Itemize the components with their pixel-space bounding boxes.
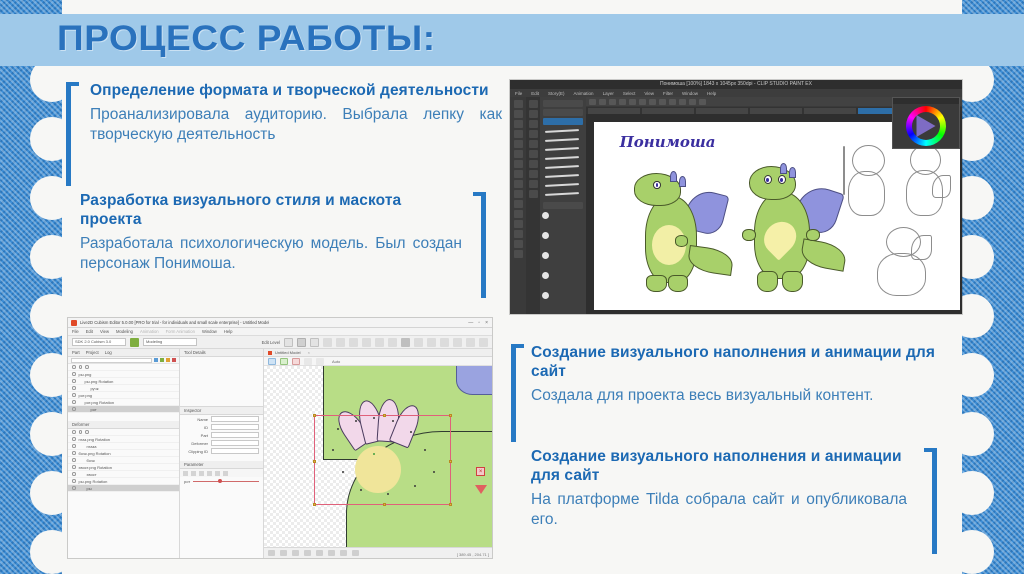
list-item[interactable]: бочк.png Rotation: [68, 450, 179, 457]
block-1-body: Проанализировала аудиторию. Выбрала лепк…: [90, 105, 502, 145]
brush-preview-stroke[interactable]: [543, 181, 583, 189]
brush-preview-stroke[interactable]: [543, 172, 583, 180]
close-icon[interactable]: ×: [485, 320, 488, 326]
list-item[interactable]: ры.png: [68, 371, 179, 378]
menu-help[interactable]: Help: [224, 329, 233, 334]
deformer-label: бочк: [79, 458, 95, 463]
block-2-body: Разработала психологическую модель. Был …: [80, 234, 462, 274]
document-tab[interactable]: [696, 108, 748, 114]
cursor-coordinates: [ 389.45 , 204.71 ]: [457, 552, 489, 557]
mode-select[interactable]: Modeling: [143, 338, 197, 346]
block-1-heading: Определение формата и творческой деятель…: [90, 82, 502, 101]
eraser-tool-icon[interactable]: [514, 150, 523, 158]
menu-window[interactable]: Window: [202, 329, 217, 334]
mesh-vertex[interactable]: [337, 428, 339, 430]
bracket-left-3: [511, 344, 525, 442]
onion-skin-icon[interactable]: [340, 550, 347, 556]
subtool-icon[interactable]: [529, 120, 538, 128]
live2d-left-panels: Part Project Log: [68, 349, 180, 558]
list-item-selected[interactable]: рот: [68, 406, 179, 413]
brush-preview-stroke[interactable]: [543, 154, 583, 162]
sdk-version-select[interactable]: SDK 2.0 Cubism 3.0: [72, 338, 126, 346]
field-label: ID: [184, 425, 208, 430]
resize-handle[interactable]: [383, 414, 386, 417]
toolbar-icon[interactable]: [609, 99, 616, 105]
part-label: ры.png Rotation: [79, 379, 114, 384]
show-mesh-icon[interactable]: [268, 358, 276, 365]
menu-view[interactable]: View: [100, 329, 109, 334]
document-tab[interactable]: [588, 108, 640, 114]
eye-icon[interactable]: [72, 393, 76, 397]
subtool-icon[interactable]: [529, 160, 538, 168]
deformer-panel-header: Deformer: [68, 421, 179, 429]
eye-icon[interactable]: [72, 479, 76, 483]
parameter-name: рот: [184, 479, 190, 484]
toolbar-icon[interactable]: [629, 99, 636, 105]
toolbar-icon[interactable]: [689, 99, 696, 105]
glue-icon[interactable]: [349, 338, 358, 347]
deformer-label: ры: [79, 486, 92, 491]
field-label: Clipping ID: [184, 449, 208, 454]
visibility-icon[interactable]: [72, 430, 76, 434]
pen-tool-icon[interactable]: [440, 338, 449, 347]
list-item[interactable]: ручк: [68, 385, 179, 392]
tool-details-header: Tool Details: [180, 349, 263, 357]
model-view-tab[interactable]: Untitled Model ×: [264, 349, 492, 357]
brush-category-row[interactable]: [543, 100, 583, 107]
brush-preview-stroke[interactable]: [543, 127, 583, 135]
eye-icon[interactable]: [72, 372, 76, 376]
swatch[interactable]: [542, 232, 549, 239]
menu-form-animation[interactable]: Form Animation: [166, 329, 195, 334]
block-4-body: На платформе Tilda собрала сайт и опубли…: [531, 490, 907, 530]
flip-icon[interactable]: [328, 550, 335, 556]
select-tool-icon[interactable]: [514, 230, 523, 238]
menu-animation[interactable]: Animation: [574, 91, 594, 96]
text-block-2: Разработка визуального стиля и маскота п…: [72, 192, 507, 274]
parts-group-icon[interactable]: [160, 358, 164, 362]
art-app-title-bar: Понимоша [100%] 1843 x 1045px 350dpi - C…: [510, 80, 962, 89]
list-item[interactable]: ры.png Rotation: [68, 478, 179, 485]
subtool-icon[interactable]: [529, 170, 538, 178]
text-tool-icon[interactable]: [514, 170, 523, 178]
left-border-band: [0, 0, 62, 574]
page-title: ПРОЦЕСС РАБОТЫ:: [57, 19, 436, 59]
lasso-tool-icon[interactable]: [514, 120, 523, 128]
deformer-label: хвост.png Rotation: [79, 465, 113, 470]
lock-icon[interactable]: [79, 365, 83, 369]
live2d-app-icon: [71, 320, 77, 326]
swatch[interactable]: [542, 252, 549, 259]
menu-window[interactable]: Window: [682, 91, 698, 96]
part-label: ры.png: [79, 372, 92, 377]
ruler-tool-icon[interactable]: [514, 200, 523, 208]
eye-icon[interactable]: [72, 379, 76, 383]
brush-tool-icon[interactable]: [427, 338, 436, 347]
param-next-icon[interactable]: [199, 471, 204, 476]
param-group-icon[interactable]: [215, 471, 220, 476]
inspector-field-deformer[interactable]: Deformer: [180, 439, 263, 447]
art-app-menubar[interactable]: File Edit Story(E) Animation Layer Selec…: [510, 89, 962, 97]
inspector-field-id[interactable]: ID: [180, 423, 263, 431]
menu-file[interactable]: File: [72, 329, 79, 334]
toolbar-icon[interactable]: [599, 99, 606, 105]
tab-project[interactable]: Project: [86, 350, 99, 355]
zoom-fit-icon[interactable]: [280, 550, 287, 556]
eyedropper-tool-icon[interactable]: [514, 190, 523, 198]
toolbar-icon[interactable]: [589, 99, 596, 105]
parameter-slider[interactable]: [193, 481, 259, 482]
toolbar-icon[interactable]: [679, 99, 686, 105]
edit-level-2-button[interactable]: [297, 338, 306, 347]
eye-icon[interactable]: [72, 472, 76, 476]
tab-part[interactable]: Part: [72, 350, 80, 355]
param-prev-icon[interactable]: [191, 471, 196, 476]
toolbar-icon[interactable]: [619, 99, 626, 105]
list-item[interactable]: бочк: [68, 457, 179, 464]
view-scale-label: Auto: [332, 359, 340, 364]
sketch-pose-2: [901, 145, 952, 224]
mesh-vertex[interactable]: [387, 493, 389, 495]
mode-icon[interactable]: [130, 338, 139, 347]
subtool-icon[interactable]: [529, 190, 538, 198]
model-tab-label: Untitled Model: [275, 350, 301, 355]
toolbar-icon[interactable]: [669, 99, 676, 105]
brush-preview-stroke[interactable]: [543, 190, 583, 198]
param-sync-icon[interactable]: [207, 471, 212, 476]
list-item[interactable]: глаз.png Rotation: [68, 436, 179, 443]
bracket-right-2: [472, 192, 486, 298]
eye-icon[interactable]: [72, 465, 76, 469]
document-tab[interactable]: [642, 108, 694, 114]
color-wheel-icon[interactable]: [906, 106, 946, 146]
parts-header-row: [68, 364, 179, 371]
subtool-icon[interactable]: [529, 100, 538, 108]
toolbar-icon[interactable]: [649, 99, 656, 105]
brush-preview-stroke[interactable]: [543, 145, 583, 153]
field-label: Name: [184, 417, 208, 422]
edit-level-label: Edit Level: [262, 340, 280, 345]
artwork-canvas[interactable]: Понимоша: [594, 122, 960, 310]
sketch-pose-3: [872, 227, 934, 302]
list-item[interactable]: рот.png Rotation: [68, 399, 179, 406]
field-input[interactable]: [211, 440, 259, 446]
slide-content: Определение формата и творческой деятель…: [62, 66, 962, 574]
list-item[interactable]: хвост: [68, 471, 179, 478]
eye-icon[interactable]: [72, 444, 76, 448]
brush-preview-stroke[interactable]: [543, 136, 583, 144]
material-panel-header[interactable]: [543, 202, 583, 209]
bracket-left-1: [66, 82, 80, 186]
eye-icon[interactable]: [72, 407, 76, 411]
menu-edit[interactable]: Edit: [86, 329, 93, 334]
right-border-band: [962, 0, 1024, 574]
resize-handle[interactable]: [313, 460, 316, 463]
close-tab-icon[interactable]: ×: [308, 350, 310, 355]
preview-icon[interactable]: [352, 550, 359, 556]
fill-tool-icon[interactable]: [514, 140, 523, 148]
toolbar-icon[interactable]: [659, 99, 666, 105]
live2d-workspace: Part Project Log: [68, 349, 492, 558]
block-2-heading: Разработка визуального стиля и маскота п…: [80, 192, 462, 230]
dragon-illustration-2: [733, 163, 850, 295]
subtool-icon[interactable]: [529, 150, 538, 158]
document-tab[interactable]: [750, 108, 802, 114]
lock-icon[interactable]: [79, 430, 83, 434]
model-view-statusbar[interactable]: [ 389.45 , 204.71 ]: [264, 547, 492, 558]
pan-icon[interactable]: [316, 550, 323, 556]
edit-level-1-button[interactable]: [284, 338, 293, 347]
brush-category-row[interactable]: [543, 109, 583, 116]
param-delete-icon[interactable]: [223, 471, 228, 476]
eye-icon[interactable]: [72, 486, 76, 490]
deformer-label: ры.png Rotation: [79, 479, 108, 484]
art-app-tool-palette[interactable]: [510, 97, 526, 314]
menu-filter[interactable]: Filter: [663, 91, 673, 96]
model-wing-fragment: [456, 366, 492, 395]
menu-select[interactable]: Select: [623, 91, 636, 96]
shape-tool-icon[interactable]: [514, 180, 523, 188]
part-label: рот.png: [79, 393, 93, 398]
subtool-icon[interactable]: [529, 180, 538, 188]
swatch[interactable]: [542, 212, 549, 219]
inspector-field-part[interactable]: Part: [180, 431, 263, 439]
toolbar-icon[interactable]: [699, 99, 706, 105]
mesh-vertex[interactable]: [424, 449, 426, 451]
parameter-header: Parameter: [180, 461, 263, 469]
bracket-right-4: [923, 448, 937, 554]
menu-file[interactable]: File: [515, 91, 522, 96]
inspector-field-clipping[interactable]: Clipping ID: [180, 447, 263, 455]
lasso-tool-icon[interactable]: [414, 338, 423, 347]
inspector-header: Inspector: [180, 407, 263, 415]
parameter-toolbar[interactable]: [180, 469, 263, 477]
deformer-header-row: [68, 429, 179, 436]
swatch[interactable]: [542, 272, 549, 279]
tool-details-body: [180, 357, 263, 407]
menu-help[interactable]: Help: [707, 91, 716, 96]
model-icon: [268, 351, 272, 355]
mesh-vertex[interactable]: [342, 471, 344, 473]
subtool-icon[interactable]: [529, 140, 538, 148]
field-input[interactable]: [211, 432, 259, 438]
parts-lock-icon[interactable]: [166, 358, 170, 362]
subtool-icon[interactable]: [529, 130, 538, 138]
artwork-character-title: Понимоша: [620, 133, 716, 151]
move-tool-icon[interactable]: [514, 130, 523, 138]
frame-tool-icon[interactable]: [514, 210, 523, 218]
list-item[interactable]: рот.png: [68, 392, 179, 399]
color-wheel-panel[interactable]: [892, 97, 960, 149]
parts-delete-icon[interactable]: [172, 358, 176, 362]
live2d-toolbar[interactable]: SDK 2.0 Cubism 3.0 Modeling Edit Level: [68, 336, 492, 349]
menu-edit[interactable]: Edit: [531, 91, 539, 96]
live2d-middle-panels: Tool Details Inspector Name ID Part: [180, 349, 264, 558]
subtool-icon[interactable]: [529, 110, 538, 118]
warp-deformer-icon[interactable]: [362, 338, 371, 347]
menu-layer[interactable]: Layer: [603, 91, 614, 96]
hand-tool-icon[interactable]: [514, 240, 523, 248]
eye-icon[interactable]: [72, 400, 76, 404]
model-canvas[interactable]: ×: [264, 366, 492, 547]
pen-tool-icon[interactable]: [514, 100, 523, 108]
list-item[interactable]: ры.png Rotation: [68, 378, 179, 385]
eraser-tool-icon[interactable]: [453, 338, 462, 347]
select-icon[interactable]: [85, 430, 89, 434]
resize-handle[interactable]: [313, 414, 316, 417]
document-tab[interactable]: [804, 108, 856, 114]
parts-add-icon[interactable]: [154, 358, 158, 362]
minimize-icon[interactable]: —: [468, 320, 473, 326]
zoom-in-icon[interactable]: [292, 550, 299, 556]
parts-search-row[interactable]: [68, 357, 179, 364]
text-block-3: Создание визуального наполнения и анимац…: [517, 344, 947, 406]
resize-handle[interactable]: [449, 503, 452, 506]
toolbar-icon[interactable]: [639, 99, 646, 105]
mesh-vertex[interactable]: [433, 471, 435, 473]
menu-view[interactable]: View: [644, 91, 654, 96]
deformer-label: глаз.png Rotation: [79, 437, 111, 442]
live2d-title-bar: Live2D Cubism Editor 5.0.00 [PRO for tri…: [68, 318, 492, 328]
list-item-selected[interactable]: ры: [68, 485, 179, 492]
live2d-menubar[interactable]: File Edit View Modeling Animation Form A…: [68, 328, 492, 336]
mesh-edit-icon[interactable]: [323, 338, 332, 347]
parts-panel-tabs[interactable]: Part Project Log: [68, 349, 179, 357]
screenshot-art-app[interactable]: Понимоша [100%] 1843 x 1045px 350dpi - C…: [510, 80, 962, 314]
resize-handle[interactable]: [313, 503, 316, 506]
menu-story[interactable]: Story(E): [548, 91, 565, 96]
tab-log[interactable]: Log: [105, 350, 112, 355]
brush-preview-stroke[interactable]: [543, 163, 583, 171]
zoom-out-icon[interactable]: [304, 550, 311, 556]
dragon-illustration-1: [627, 171, 740, 295]
selection-bounding-box[interactable]: [314, 415, 451, 506]
list-item[interactable]: хвост.png Rotation: [68, 464, 179, 471]
art-app-subtool-palette[interactable]: [526, 97, 540, 314]
visibility-icon[interactable]: [72, 365, 76, 369]
color-wheel-title-bar: [893, 98, 959, 104]
rotate-tool-icon[interactable]: [514, 250, 523, 258]
field-input[interactable]: [211, 448, 259, 454]
show-deformer-icon[interactable]: [280, 358, 288, 365]
zoom-tool-icon[interactable]: [514, 110, 523, 118]
text-block-4: Создание визуального наполнения и анимац…: [517, 448, 957, 530]
select-tool-icon[interactable]: [401, 338, 410, 347]
eye-icon[interactable]: [72, 451, 76, 455]
sketch-pose-1: [843, 145, 894, 224]
param-key-icon[interactable]: [183, 471, 188, 476]
model-view-toolbar[interactable]: Auto: [264, 357, 492, 366]
parameter-row[interactable]: рот: [180, 477, 263, 485]
delete-marker-icon[interactable]: ×: [476, 467, 485, 476]
grid-icon[interactable]: [316, 358, 324, 365]
gradient-tool-icon[interactable]: [514, 220, 523, 228]
menu-modeling[interactable]: Modeling: [116, 329, 133, 334]
slide-root: ПРОЦЕСС РАБОТЫ: Определение формата и тв…: [0, 0, 1024, 574]
block-4-heading: Создание визуального наполнения и анимац…: [531, 448, 907, 486]
mesh-vertex[interactable]: [360, 489, 362, 491]
text-block-1: Определение формата и творческой деятель…: [72, 82, 502, 145]
show-bounds-icon[interactable]: [292, 358, 300, 365]
block-3-body: Создала для проекта весь визуальный конт…: [531, 386, 947, 406]
magnet-tool-icon[interactable]: [466, 338, 475, 347]
blend-tool-icon[interactable]: [514, 160, 523, 168]
slider-handle[interactable]: [218, 479, 222, 483]
edit-level-3-button[interactable]: [310, 338, 319, 347]
part-label: ручк: [79, 386, 99, 391]
part-label: рот: [79, 407, 97, 412]
screenshot-live2d[interactable]: Live2D Cubism Editor 5.0.00 [PRO for tri…: [68, 318, 492, 558]
brush-category-row-selected[interactable]: [543, 118, 583, 125]
add-deformer-icon[interactable]: [388, 338, 397, 347]
part-label: рот.png Rotation: [79, 400, 115, 405]
resize-handle[interactable]: [383, 503, 386, 506]
field-input[interactable]: [211, 424, 259, 430]
live2d-window-title: Live2D Cubism Editor 5.0.00 [PRO for tri…: [80, 320, 269, 325]
rotation-deformer-icon[interactable]: [375, 338, 384, 347]
undo-icon[interactable]: [479, 338, 488, 347]
checker-toggle-icon[interactable]: [268, 550, 275, 556]
title-banner: ПРОЦЕСС РАБОТЫ:: [0, 14, 1024, 66]
eye-icon[interactable]: [72, 437, 76, 441]
deformer-label: хвост: [79, 472, 97, 477]
inspector-field-name[interactable]: Name: [180, 415, 263, 423]
live2d-model-view[interactable]: Untitled Model × Auto: [264, 349, 492, 558]
select-icon[interactable]: [85, 365, 89, 369]
maximize-icon[interactable]: ▫: [478, 320, 480, 326]
block-3-heading: Создание визуального наполнения и анимац…: [531, 344, 947, 382]
resize-handle[interactable]: [449, 460, 452, 463]
deformer-label: глаза: [79, 444, 97, 449]
field-input[interactable]: [211, 416, 259, 422]
resize-handle[interactable]: [449, 414, 452, 417]
eye-icon[interactable]: [72, 458, 76, 462]
deformer-label: бочк.png Rotation: [79, 451, 111, 456]
window-controls[interactable]: — ▫ ×: [468, 320, 492, 326]
menu-animation[interactable]: Animation: [140, 329, 159, 334]
parts-search-input[interactable]: [71, 358, 152, 363]
color-triangle-icon[interactable]: [917, 115, 936, 137]
auto-mesh-icon[interactable]: [336, 338, 345, 347]
snap-icon[interactable]: [304, 358, 312, 365]
eye-icon[interactable]: [72, 386, 76, 390]
field-label: Deformer: [184, 441, 208, 446]
warning-triangle-icon: [475, 485, 487, 494]
list-item[interactable]: глаза: [68, 443, 179, 450]
swatch[interactable]: [542, 292, 549, 299]
field-label: Part: [184, 433, 208, 438]
